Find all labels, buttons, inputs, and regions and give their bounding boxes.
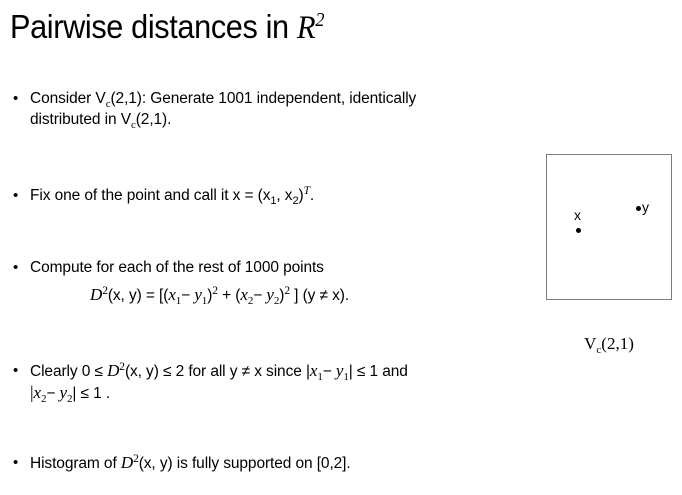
bullet-consider-line2-b: (2,1). xyxy=(136,111,172,128)
bullet-item-clearly: • Clearly 0 ≤ D2(x, y) ≤ 2 for all y ≠ x… xyxy=(13,360,513,404)
clearly-minus2: − xyxy=(46,385,59,402)
bullet-consider-line2-a: distributed in V xyxy=(30,111,131,128)
histogram-a: Histogram of xyxy=(30,455,121,472)
clearly-y2: y xyxy=(60,383,67,402)
bullet-marker-icon: • xyxy=(13,88,25,109)
clearly-x2: x xyxy=(34,383,41,402)
bullet-marker-icon: • xyxy=(13,185,25,206)
formula-y1: y xyxy=(194,285,201,304)
bullet-consider-line1-a: Consider V xyxy=(30,90,106,107)
page-title-variable: R xyxy=(297,10,315,46)
clearly-b: (x, y) ≤ 2 for all y ≠ x since | xyxy=(125,363,310,380)
bullet-fix-a: Fix one of the point and call it x = (x xyxy=(30,187,270,204)
bullet-compute-text: Compute for each of the rest of 1000 poi… xyxy=(30,257,513,278)
diagram-unit-square: x y xyxy=(546,154,672,300)
bullet-fix-point-text: Fix one of the point and call it x = (x1… xyxy=(30,185,513,206)
bullet-histogram-text: Histogram of D2(x, y) is fully supported… xyxy=(30,452,513,474)
bullet-clearly-line1: Clearly 0 ≤ D2(x, y) ≤ 2 for all y ≠ x s… xyxy=(30,360,513,382)
formula-args: (x, y) = [( xyxy=(108,287,168,304)
square-boundary xyxy=(546,154,672,300)
clearly-D: D xyxy=(107,361,119,380)
point-y-label: y xyxy=(642,200,649,214)
bullet-item-histogram: • Histogram of D2(x, y) is fully support… xyxy=(13,452,513,474)
page-title: Pairwise distances in R2 xyxy=(10,8,324,48)
point-x-dot-icon xyxy=(576,228,581,233)
bullet-marker-icon: • xyxy=(13,452,25,473)
formula-y2: y xyxy=(266,285,273,304)
clearly-minus1: − xyxy=(323,363,336,380)
formula-D: D xyxy=(90,285,102,304)
bullet-marker-icon: • xyxy=(13,257,25,278)
bullet-marker-icon: • xyxy=(13,360,25,381)
bullet-item-consider: • Consider Vc(2,1): Generate 1001 indepe… xyxy=(13,88,513,130)
bullet-clearly-line2: |x2− y2| ≤ 1 . xyxy=(30,382,513,404)
bullet-consider-line2: distributed in Vc(2,1). xyxy=(30,109,513,130)
bullet-fix-b: , x xyxy=(276,187,292,204)
bullet-fix-d: . xyxy=(310,187,314,204)
formula-tail: ] (y ≠ x). xyxy=(290,287,349,304)
bullet-item-compute: • Compute for each of the rest of 1000 p… xyxy=(13,257,513,306)
clearly-l2-close: | ≤ 1 . xyxy=(72,385,110,402)
bullet-consider-line1: Consider Vc(2,1): Generate 1001 independ… xyxy=(30,88,513,109)
point-x-label: x xyxy=(574,208,581,222)
histogram-b: (x, y) is fully supported on [0,2]. xyxy=(139,455,351,472)
diagram-caption: Vc(2,1) xyxy=(546,334,672,354)
formula-plus: + ( xyxy=(218,287,240,304)
formula-minus1: − xyxy=(181,287,194,304)
formula-minus2: − xyxy=(253,287,266,304)
clearly-a: Clearly 0 ≤ xyxy=(30,363,107,380)
caption-V: V xyxy=(584,334,596,353)
caption-args: (2,1) xyxy=(601,334,634,353)
formula-x2: x xyxy=(240,285,247,304)
formula-distance-squared: D2(x, y) = [(x1− y1)2 + (x2− y2)2 ] (y ≠… xyxy=(90,284,513,306)
bullet-item-fix-point: • Fix one of the point and call it x = (… xyxy=(13,185,513,206)
page-title-exponent: 2 xyxy=(315,9,324,31)
bullet-consider-line1-b: (2,1): Generate 1001 independent, identi… xyxy=(110,90,416,107)
histogram-D: D xyxy=(121,453,133,472)
clearly-c: | ≤ 1 and xyxy=(349,363,408,380)
page-title-text: Pairwise distances in xyxy=(10,8,297,45)
formula-x1: x xyxy=(168,285,175,304)
point-y-dot-icon xyxy=(636,206,641,211)
